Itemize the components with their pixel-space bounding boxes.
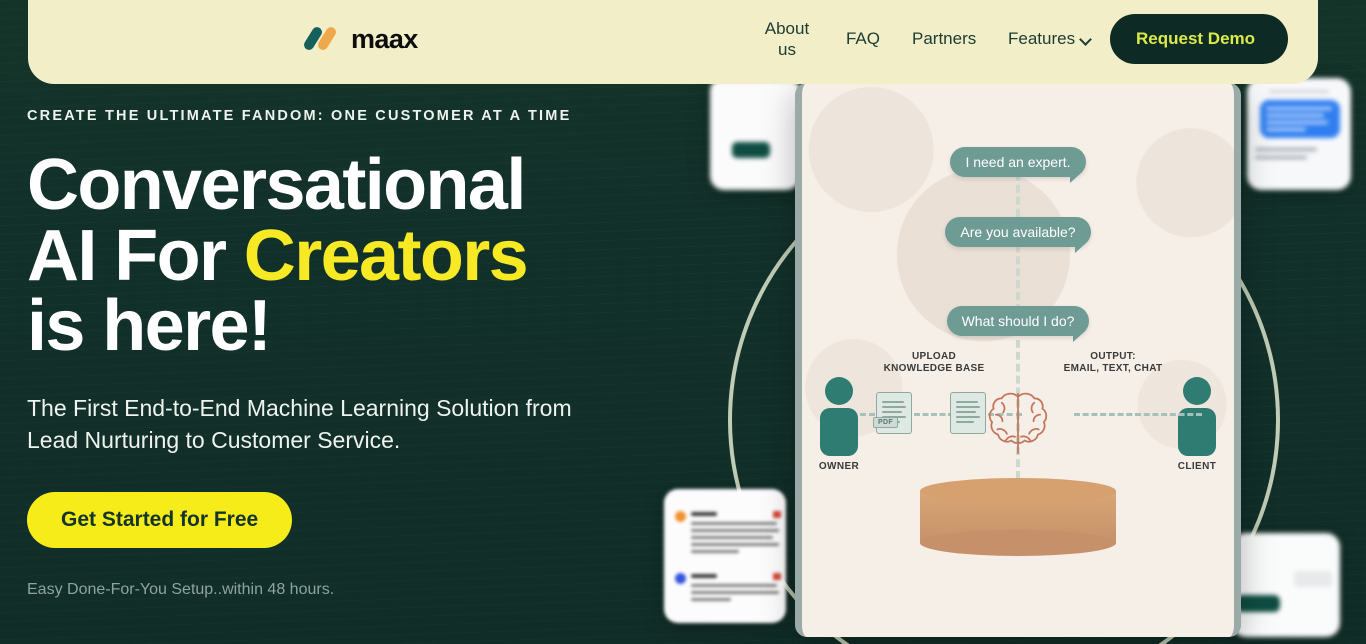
- request-demo-button[interactable]: Request Demo: [1110, 14, 1288, 63]
- database-cylinder-icon: [920, 478, 1116, 556]
- upload-label-line-2: KNOWLEDGE BASE: [864, 363, 1004, 375]
- nav-item-features-label: Features: [1008, 28, 1075, 49]
- illustration-panel: I need an expert. Are you available? Wha…: [795, 83, 1241, 637]
- speech-bubble-3-row: What should I do?: [802, 306, 1234, 336]
- headline-line-2-plain: AI For: [27, 216, 244, 296]
- owner-body-icon: [820, 408, 858, 456]
- hero-eyebrow: CREATE THE ULTIMATE FANDOM: ONE CUSTOMER…: [27, 108, 667, 124]
- upload-knowledge-base-label: UPLOAD KNOWLEDGE BASE: [864, 351, 1004, 375]
- decorative-card-bottom-left: [664, 489, 786, 623]
- output-label: OUTPUT: EMAIL, TEXT, CHAT: [1038, 351, 1188, 375]
- output-label-line-1: OUTPUT:: [1038, 351, 1188, 363]
- decorative-card-top-left: [710, 80, 800, 190]
- flow-diagram: UPLOAD KNOWLEDGE BASE OUTPUT: EMAIL, TEX…: [802, 351, 1234, 461]
- speech-bubble-3: What should I do?: [947, 306, 1090, 336]
- headline-line-3: is here!: [27, 286, 270, 366]
- hero-illustration: I need an expert. Are you available? Wha…: [660, 0, 1366, 644]
- dash-segment-2: [914, 413, 954, 416]
- owner-label: OWNER: [808, 461, 870, 472]
- decorative-card-top-right: [1247, 78, 1351, 190]
- output-label-line-2: EMAIL, TEXT, CHAT: [1038, 363, 1188, 375]
- hero-headline: Conversational AI For Creators is here!: [27, 150, 667, 362]
- client-figure: CLIENT: [1166, 377, 1228, 472]
- nav-item-about-us[interactable]: About us: [744, 18, 830, 61]
- nav-item-faq[interactable]: FAQ: [830, 28, 896, 49]
- upload-label-line-1: UPLOAD: [864, 351, 1004, 363]
- owner-head-icon: [825, 377, 853, 405]
- hero-note: Easy Done-For-You Setup..within 48 hours…: [27, 581, 667, 599]
- nav-item-features[interactable]: Features: [992, 28, 1088, 49]
- speech-bubble-2-row: Are you available?: [802, 217, 1234, 247]
- logo-text: maax: [351, 24, 418, 55]
- pdf-document-icon: PDF: [876, 392, 912, 434]
- client-head-icon: [1183, 377, 1211, 405]
- site-header: maax About us FAQ Partners Features Requ…: [28, 0, 1318, 84]
- speech-bubble-1-row: I need an expert.: [802, 147, 1234, 177]
- speech-bubble-1: I need an expert.: [950, 147, 1085, 177]
- hero-copy: CREATE THE ULTIMATE FANDOM: ONE CUSTOMER…: [27, 108, 667, 599]
- hero-subheading: The First End-to-End Machine Learning So…: [27, 392, 602, 457]
- decorative-card-bottom-right: [1232, 533, 1340, 637]
- speech-bubble-2: Are you available?: [945, 217, 1090, 247]
- headline-line-1: Conversational: [27, 145, 525, 225]
- headline-highlight: Creators: [244, 216, 527, 296]
- main-nav: About us FAQ Partners Features Request D…: [744, 14, 1288, 63]
- logo-mark-icon: [306, 28, 342, 50]
- get-started-button[interactable]: Get Started for Free: [27, 492, 292, 548]
- dash-segment-4: [1074, 413, 1202, 416]
- owner-figure: OWNER: [808, 377, 870, 472]
- brain-icon: [981, 385, 1055, 459]
- pdf-tag-label: PDF: [873, 417, 898, 428]
- client-label: CLIENT: [1166, 461, 1228, 472]
- landing-page: maax About us FAQ Partners Features Requ…: [0, 0, 1366, 644]
- nav-item-partners[interactable]: Partners: [896, 28, 992, 49]
- logo[interactable]: maax: [306, 24, 418, 55]
